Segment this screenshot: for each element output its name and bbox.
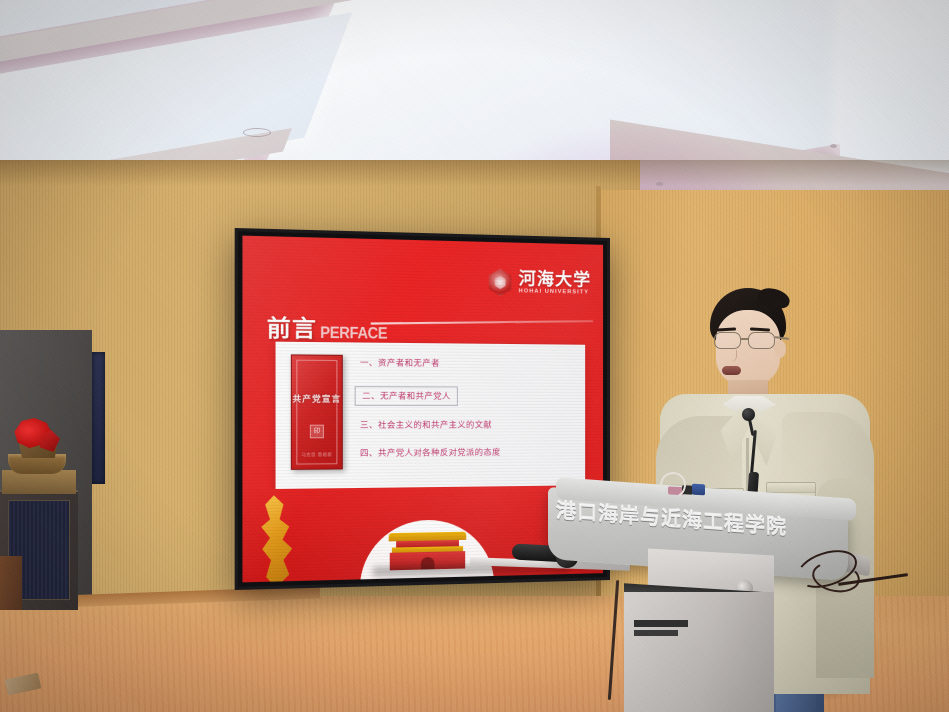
podium-equipment-label-secondary [634,630,678,636]
toc-item-4-label: 共产党人对各种反对党派的态度 [378,448,501,458]
marker-icon[interactable] [692,484,705,496]
toc-item-1-index: 一、 [360,358,378,367]
toc-item-3-label: 社会主义的和共产主义的文献 [378,420,492,430]
dark-vertical-wall-panel [92,352,105,484]
toc-item-2-label: 无产者和共产党人 [380,391,451,400]
toc-item-2[interactable]: 二、无产者和共产党人 [355,386,458,406]
university-name-en: HOHAI UNIVERSITY [519,290,592,297]
ceiling-vent-icon [243,128,271,137]
book-title: 共产党宣言 [292,393,342,405]
toc-item-3-index: 三、 [360,420,378,429]
eyeglass-bridge [741,338,749,340]
eyeglass-lens-left [714,332,741,349]
slide-title: 前言 PERFACE [267,310,398,345]
eyeglasses-icon [712,332,786,350]
book-cover-image: 共产党宣言 印 马克思 恩格斯 [291,354,343,469]
book-subtitle: 马克思 恩格斯 [292,452,342,459]
podium-equipment-label [634,620,688,627]
toc-item-2-index: 二、 [362,391,380,400]
microphone-capsule-icon [742,408,755,421]
toc-item-1-label: 资产者和无产者 [378,358,440,368]
book-border [296,360,337,465]
jacket-pocket-flap-right [766,482,816,493]
toc-item-1[interactable]: 一、资产者和无产者 [360,357,577,370]
wall-top-shadow [0,160,949,186]
toc-item-4[interactable]: 四、共产党人对各种反对党派的态度 [360,446,577,459]
slide-toc-list: 一、资产者和无产者 二、无产者和共产党人 三、社会主义的和共产主义的文献 四、共… [360,357,577,475]
university-name-cn: 河海大学 [519,270,592,289]
toc-item-3[interactable]: 三、社会主义的和共产主义的文献 [360,419,577,431]
slide-title-cn: 前言 [267,310,317,344]
slide-content-card: 共产党宣言 印 马克思 恩格斯 一、资产者和无产者 二、无产者和共产党人 三、社… [276,342,586,500]
university-logo-text: 河海大学 HOHAI UNIVERSITY [519,270,592,296]
title-underline [371,320,593,324]
photo-scene: 河海大学 HOHAI UNIVERSITY 前言 PERFACE 共产党宣言 印… [0,0,949,712]
book-seal: 印 [310,425,324,439]
slide-title-en: PERFACE [320,324,387,343]
sailing-ship-sculpture [6,418,68,476]
eyeglass-temple [775,336,789,339]
hohai-shield-logo-icon [487,268,514,296]
presenter-mouth [722,366,741,375]
chair [0,556,22,610]
university-logo: 河海大学 HOHAI UNIVERSITY [487,268,591,297]
podium-base-cabinet [624,592,774,712]
ceiling-spot-icon [830,144,837,148]
eyeglass-lens-right [748,332,775,349]
golden-ornament-icon [254,495,302,582]
toc-item-4-index: 四、 [360,448,378,457]
